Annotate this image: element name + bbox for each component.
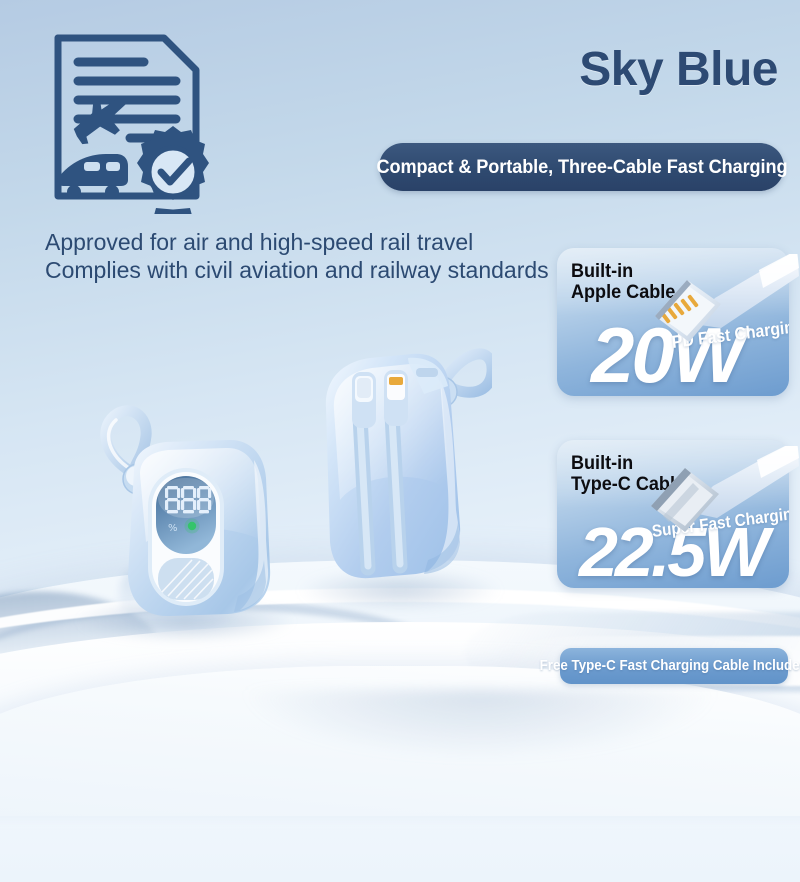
svg-text:%: % xyxy=(168,523,178,534)
high-speed-train-icon xyxy=(57,154,128,199)
usb-c-connector-icon xyxy=(629,446,799,538)
builtin-lightning-head xyxy=(384,370,408,426)
certification-text: Approved for air and high-speed rail tra… xyxy=(45,228,549,284)
tagline-banner: Compact & Portable, Three-Cable Fast Cha… xyxy=(379,143,784,191)
podium-front-shadow xyxy=(240,690,720,760)
powerbank-front-unit: % xyxy=(88,400,278,630)
page-title: Sky Blue xyxy=(579,46,778,94)
feature-card-apple-cable[interactable]: 20W PD Fast Charging Built-in Apple Cabl… xyxy=(557,248,789,396)
tagline-text: Compact & Portable, Three-Cable Fast Cha… xyxy=(376,156,787,179)
powerbank-back-unit xyxy=(312,330,492,600)
led-display: % xyxy=(148,468,224,606)
feature-card-typec-cable[interactable]: 22.5W Super Fast Charging Built-in Type-… xyxy=(557,440,789,588)
builtin-typec-head xyxy=(352,372,376,428)
free-cable-badge-text: Free Type-C Fast Charging Cable Included xyxy=(540,658,800,674)
certification-line-1: Approved for air and high-speed rail tra… xyxy=(45,228,549,256)
certification-line-2: Complies with civil aviation and railway… xyxy=(45,256,549,284)
certificate-icon xyxy=(38,24,228,214)
product-poster: Sky Blue Compact & Portable, Three-Cable… xyxy=(0,0,800,800)
lightning-connector-icon xyxy=(629,254,799,346)
free-cable-badge: Free Type-C Fast Charging Cable Included xyxy=(560,648,788,684)
